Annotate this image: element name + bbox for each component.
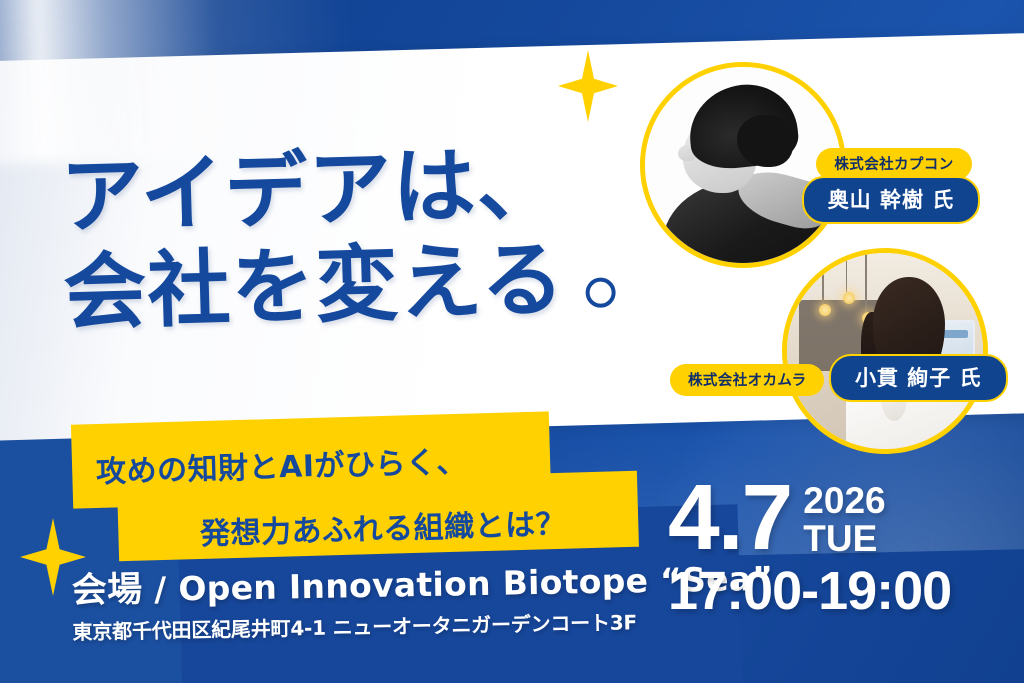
- event-date: 4.7: [668, 478, 791, 558]
- headline-line-1: アイデアは、: [59, 134, 613, 246]
- venue-label: 会場: [71, 570, 142, 611]
- speaker-2-portrait: [787, 253, 983, 449]
- speaker-2-company: 株式会社オカムラ: [670, 364, 824, 396]
- speaker-photo-2: [782, 248, 988, 454]
- speaker-2-name: 小貫 絢子 氏: [829, 354, 1008, 402]
- event-banner: アイデアは、 会社を変える 攻めの知財とAIがひらく、 発想力あふれる組織とは？: [0, 0, 1024, 683]
- event-time: 17:00-19:00: [668, 564, 951, 618]
- speaker-badge-1: 株式会社カプコン 奥山 幹樹 氏: [758, 148, 1024, 224]
- event-schedule: 4.7 2026 TUE 17:00-19:00: [668, 478, 951, 618]
- circle-period-icon: [585, 278, 616, 309]
- venue-separator: /: [154, 569, 167, 608]
- subtitle-block: 攻めの知財とAIがひらく、 発想力あふれる組織とは？: [0, 412, 660, 552]
- event-year: 2026: [803, 482, 885, 520]
- page-title: アイデアは、 会社を変える: [59, 134, 616, 342]
- event-weekday: TUE: [803, 520, 885, 558]
- headline-line-2: 会社を変える: [62, 232, 566, 342]
- speaker-1-name: 奥山 幹樹 氏: [802, 176, 981, 224]
- speaker-badge-2: 株式会社オカムラ 小貫 絢子 氏: [666, 358, 1008, 402]
